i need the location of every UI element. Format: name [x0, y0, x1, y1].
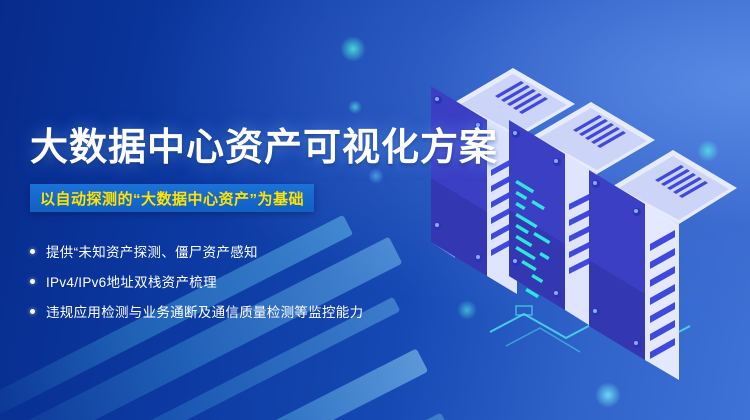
- server-rack-right: [583, 138, 750, 413]
- bullet-text: IPv4/IPv6地址双栈资产梳理: [46, 271, 217, 291]
- list-item: 提供“未知资产探测、僵尸资产感知: [30, 236, 450, 266]
- bullet-text: 违规应用检测与业务通断及通信质量检测等监控能力: [46, 301, 363, 321]
- subtitle-banner: 以自动探测的“大数据中心资产”为基础: [30, 184, 314, 212]
- copy-block: 大数据中心资产可视化方案 以自动探测的“大数据中心资产”为基础 提供“未知资产探…: [0, 0, 460, 420]
- subtitle-text: 以自动探测的“大数据中心资产”为基础: [40, 188, 304, 209]
- bullet-dot-icon: [30, 279, 35, 284]
- bullet-text: 提供“未知资产探测、僵尸资产感知: [46, 241, 258, 261]
- list-item: 违规应用检测与业务通断及通信质量检测等监控能力: [30, 296, 450, 326]
- promo-banner: 大数据中心资产可视化方案 以自动探测的“大数据中心资产”为基础 提供“未知资产探…: [0, 0, 750, 420]
- isometric-server-racks: [425, 40, 750, 420]
- list-item: IPv4/IPv6地址双栈资产梳理: [30, 266, 450, 296]
- page-title: 大数据中心资产可视化方案: [30, 126, 498, 170]
- feature-bullet-list: 提供“未知资产探测、僵尸资产感知 IPv4/IPv6地址双栈资产梳理 违规应用检…: [30, 236, 450, 326]
- bullet-dot-icon: [30, 249, 35, 254]
- bullet-dot-icon: [30, 309, 35, 314]
